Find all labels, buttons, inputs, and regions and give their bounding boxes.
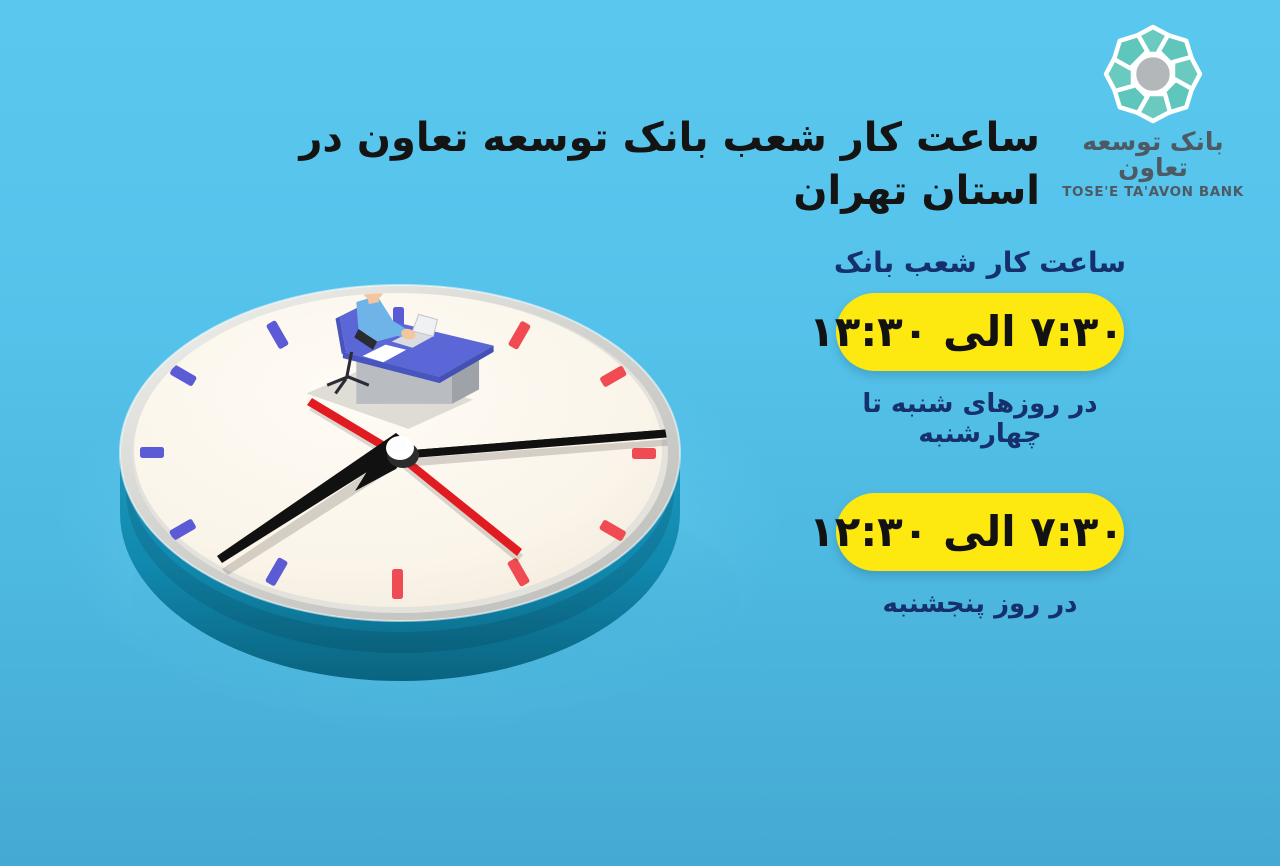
working-hours-panel: ساعت کار شعب بانک ۷:۳۰ الی ۱۳:۳۰ در روزه… — [800, 246, 1160, 619]
days-label-weekdays: در روزهای شنبه تا چهارشنبه — [800, 389, 1160, 449]
panel-spacer — [800, 449, 1160, 493]
days-label-thursday: در روز پنجشنبه — [800, 589, 1160, 619]
page-title: ساعت کار شعب بانک توسعه تعاون در استان ت… — [230, 112, 1040, 218]
bank-logo-name-fa: بانک توسعه تعاون — [1048, 129, 1258, 182]
bank-logo-block: بانک توسعه تعاون TOSE'E TA'AVON BANK — [1048, 22, 1258, 200]
poster-canvas: ساعت کار شعب بانک توسعه تعاون در استان ت… — [0, 0, 1280, 866]
clock-illustration — [100, 255, 760, 715]
bank-flower-logo-icon — [1088, 22, 1218, 126]
working-hours-heading: ساعت کار شعب بانک — [800, 246, 1160, 279]
hours-pill-weekdays: ۷:۳۰ الی ۱۳:۳۰ — [836, 293, 1124, 371]
hours-pill-thursday: ۷:۳۰ الی ۱۲:۳۰ — [836, 493, 1124, 571]
clock-svg — [100, 255, 760, 715]
bank-logo-name-en: TOSE'E TA'AVON BANK — [1048, 184, 1258, 200]
